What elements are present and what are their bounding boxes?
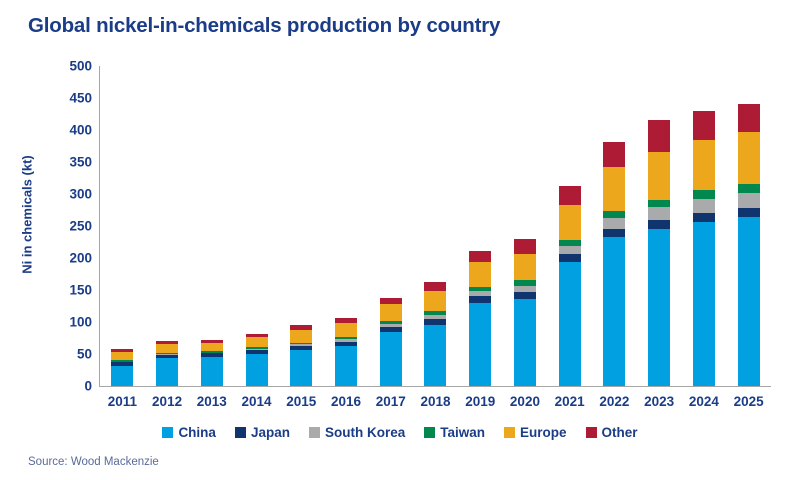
legend-item-taiwan[interactable]: Taiwan xyxy=(424,425,485,440)
bar-stack xyxy=(380,298,402,386)
bar-segment-europe[interactable] xyxy=(246,337,268,347)
y-axis-tick-50: 50 xyxy=(34,347,92,361)
bar-segment-china[interactable] xyxy=(156,358,178,386)
bar-segment-taiwan[interactable] xyxy=(693,190,715,198)
legend-swatch-icon xyxy=(504,427,515,438)
x-axis-line xyxy=(99,386,771,387)
legend-swatch-icon xyxy=(162,427,173,438)
plot-area: Ni in chemicals (kt) 0501001502002503003… xyxy=(0,52,800,402)
bar-segment-other[interactable] xyxy=(424,282,446,291)
bar-segment-china[interactable] xyxy=(424,325,446,386)
bar-stack xyxy=(559,186,581,386)
bar-segment-europe[interactable] xyxy=(335,323,357,337)
bar-group-2016[interactable] xyxy=(324,66,369,386)
bar-segment-europe[interactable] xyxy=(201,343,223,352)
legend-item-south-korea[interactable]: South Korea xyxy=(309,425,405,440)
bar-group-2018[interactable] xyxy=(413,66,458,386)
x-axis-tick-2014: 2014 xyxy=(234,394,279,409)
source-note: Source: Wood Mackenzie xyxy=(28,456,159,468)
bar-segment-japan[interactable] xyxy=(514,292,536,299)
x-axis-tick-2011: 2011 xyxy=(100,394,145,409)
y-axis-tick-250: 250 xyxy=(34,219,92,233)
bar-segment-europe[interactable] xyxy=(514,254,536,281)
legend-label: Taiwan xyxy=(440,425,485,440)
bar-segment-other[interactable] xyxy=(603,142,625,167)
legend-item-europe[interactable]: Europe xyxy=(504,425,567,440)
bar-segment-china[interactable] xyxy=(201,357,223,386)
bar-group-2011[interactable] xyxy=(100,66,145,386)
bar-stack xyxy=(156,341,178,386)
legend-label: Other xyxy=(602,425,638,440)
bar-segment-europe[interactable] xyxy=(559,205,581,240)
bar-segment-europe[interactable] xyxy=(380,304,402,321)
bar-group-2022[interactable] xyxy=(592,66,637,386)
x-axis-tick-2012: 2012 xyxy=(145,394,190,409)
bar-group-2023[interactable] xyxy=(637,66,682,386)
y-axis-tick-0: 0 xyxy=(34,379,92,393)
y-axis-tick-150: 150 xyxy=(34,283,92,297)
y-axis-tick-200: 200 xyxy=(34,251,92,265)
bar-segment-europe[interactable] xyxy=(111,352,133,361)
bar-segment-china[interactable] xyxy=(514,299,536,386)
chart-legend: ChinaJapanSouth KoreaTaiwanEuropeOther xyxy=(0,425,800,440)
y-axis-tick-300: 300 xyxy=(34,187,92,201)
page-title: Global nickel-in-chemicals production by… xyxy=(28,14,500,38)
y-axis-title: Ni in chemicals (kt) xyxy=(20,125,35,305)
bar-segment-south-korea[interactable] xyxy=(559,246,581,254)
bar-stack xyxy=(514,239,536,386)
x-axis-tick-2023: 2023 xyxy=(637,394,682,409)
bar-segment-china[interactable] xyxy=(380,332,402,386)
x-axis-tick-2021: 2021 xyxy=(547,394,592,409)
x-axis-tick-2020: 2020 xyxy=(503,394,548,409)
bar-segment-other[interactable] xyxy=(514,239,536,253)
y-axis-tick-400: 400 xyxy=(34,123,92,137)
bar-segment-south-korea[interactable] xyxy=(693,199,715,213)
bar-group-2017[interactable] xyxy=(368,66,413,386)
bar-segment-other[interactable] xyxy=(693,111,715,140)
x-axis-tick-2017: 2017 xyxy=(368,394,413,409)
bar-segment-china[interactable] xyxy=(469,303,491,386)
bar-segment-other[interactable] xyxy=(648,120,670,153)
bar-group-2025[interactable] xyxy=(726,66,771,386)
x-axis-tick-2015: 2015 xyxy=(279,394,324,409)
bar-segment-china[interactable] xyxy=(648,229,670,386)
y-axis-tick-450: 450 xyxy=(34,91,92,105)
bar-group-2024[interactable] xyxy=(682,66,727,386)
bar-segment-europe[interactable] xyxy=(693,140,715,190)
bar-group-2012[interactable] xyxy=(145,66,190,386)
x-axis-tick-2019: 2019 xyxy=(458,394,503,409)
legend-swatch-icon xyxy=(309,427,320,438)
bar-segment-china[interactable] xyxy=(111,366,133,386)
bar-segment-japan[interactable] xyxy=(559,254,581,262)
legend-label: Europe xyxy=(520,425,567,440)
bar-segment-other[interactable] xyxy=(559,186,581,205)
x-axis-tick-2013: 2013 xyxy=(189,394,234,409)
bar-segment-other[interactable] xyxy=(738,104,760,132)
bar-segment-taiwan[interactable] xyxy=(648,200,670,208)
bar-segment-japan[interactable] xyxy=(648,220,670,228)
legend-swatch-icon xyxy=(235,427,246,438)
bar-stack xyxy=(738,104,760,386)
bar-segment-europe[interactable] xyxy=(469,262,491,287)
legend-item-other[interactable]: Other xyxy=(586,425,638,440)
bar-segment-taiwan[interactable] xyxy=(603,211,625,218)
bar-group-2020[interactable] xyxy=(503,66,548,386)
bars-area xyxy=(100,66,771,386)
x-axis-tick-2024: 2024 xyxy=(682,394,727,409)
legend-label: Japan xyxy=(251,425,290,440)
bar-group-2015[interactable] xyxy=(279,66,324,386)
y-axis-tick-500: 500 xyxy=(34,59,92,73)
bar-segment-china[interactable] xyxy=(290,350,312,386)
bar-segment-japan[interactable] xyxy=(693,213,715,222)
bar-segment-china[interactable] xyxy=(738,217,760,386)
bar-segment-south-korea[interactable] xyxy=(603,218,625,229)
bar-segment-japan[interactable] xyxy=(738,208,760,217)
legend-item-china[interactable]: China xyxy=(162,425,216,440)
bar-segment-europe[interactable] xyxy=(603,167,625,211)
bar-stack xyxy=(469,251,491,386)
x-axis-tick-2016: 2016 xyxy=(324,394,369,409)
y-axis-tick-100: 100 xyxy=(34,315,92,329)
bar-group-2019[interactable] xyxy=(458,66,503,386)
y-axis-tick-350: 350 xyxy=(34,155,92,169)
bar-segment-japan[interactable] xyxy=(603,229,625,237)
bar-stack xyxy=(424,282,446,386)
bar-stack xyxy=(603,142,625,386)
legend-label: China xyxy=(178,425,216,440)
bar-segment-china[interactable] xyxy=(559,262,581,386)
bar-group-2014[interactable] xyxy=(234,66,279,386)
x-axis-tick-2025: 2025 xyxy=(726,394,771,409)
bar-segment-other[interactable] xyxy=(469,251,491,262)
bar-stack xyxy=(201,340,223,386)
bar-segment-europe[interactable] xyxy=(156,344,178,353)
chart-container: Global nickel-in-chemicals production by… xyxy=(0,0,800,480)
x-axis-tick-2018: 2018 xyxy=(413,394,458,409)
y-axis-tick-labels: 050100150200250300350400450500 xyxy=(34,52,92,402)
x-axis-tick-2022: 2022 xyxy=(592,394,637,409)
bar-stack xyxy=(111,349,133,386)
bar-segment-china[interactable] xyxy=(603,237,625,386)
bar-segment-europe[interactable] xyxy=(648,152,670,199)
bar-segment-china[interactable] xyxy=(246,354,268,386)
legend-label: South Korea xyxy=(325,425,405,440)
bar-group-2021[interactable] xyxy=(547,66,592,386)
bar-stack xyxy=(290,325,312,386)
bar-segment-taiwan[interactable] xyxy=(738,184,760,193)
legend-swatch-icon xyxy=(586,427,597,438)
bar-stack xyxy=(246,334,268,386)
bar-segment-china[interactable] xyxy=(335,346,357,386)
bar-segment-europe[interactable] xyxy=(290,330,312,343)
bar-segment-europe[interactable] xyxy=(424,291,446,311)
bar-segment-south-korea[interactable] xyxy=(738,193,760,208)
bar-stack xyxy=(648,120,670,386)
bar-stack xyxy=(693,111,715,386)
bar-segment-south-korea[interactable] xyxy=(648,207,670,220)
bar-segment-china[interactable] xyxy=(693,222,715,386)
bar-stack xyxy=(335,318,357,386)
legend-item-japan[interactable]: Japan xyxy=(235,425,290,440)
legend-swatch-icon xyxy=(424,427,435,438)
bar-segment-europe[interactable] xyxy=(738,132,760,184)
bar-group-2013[interactable] xyxy=(189,66,234,386)
